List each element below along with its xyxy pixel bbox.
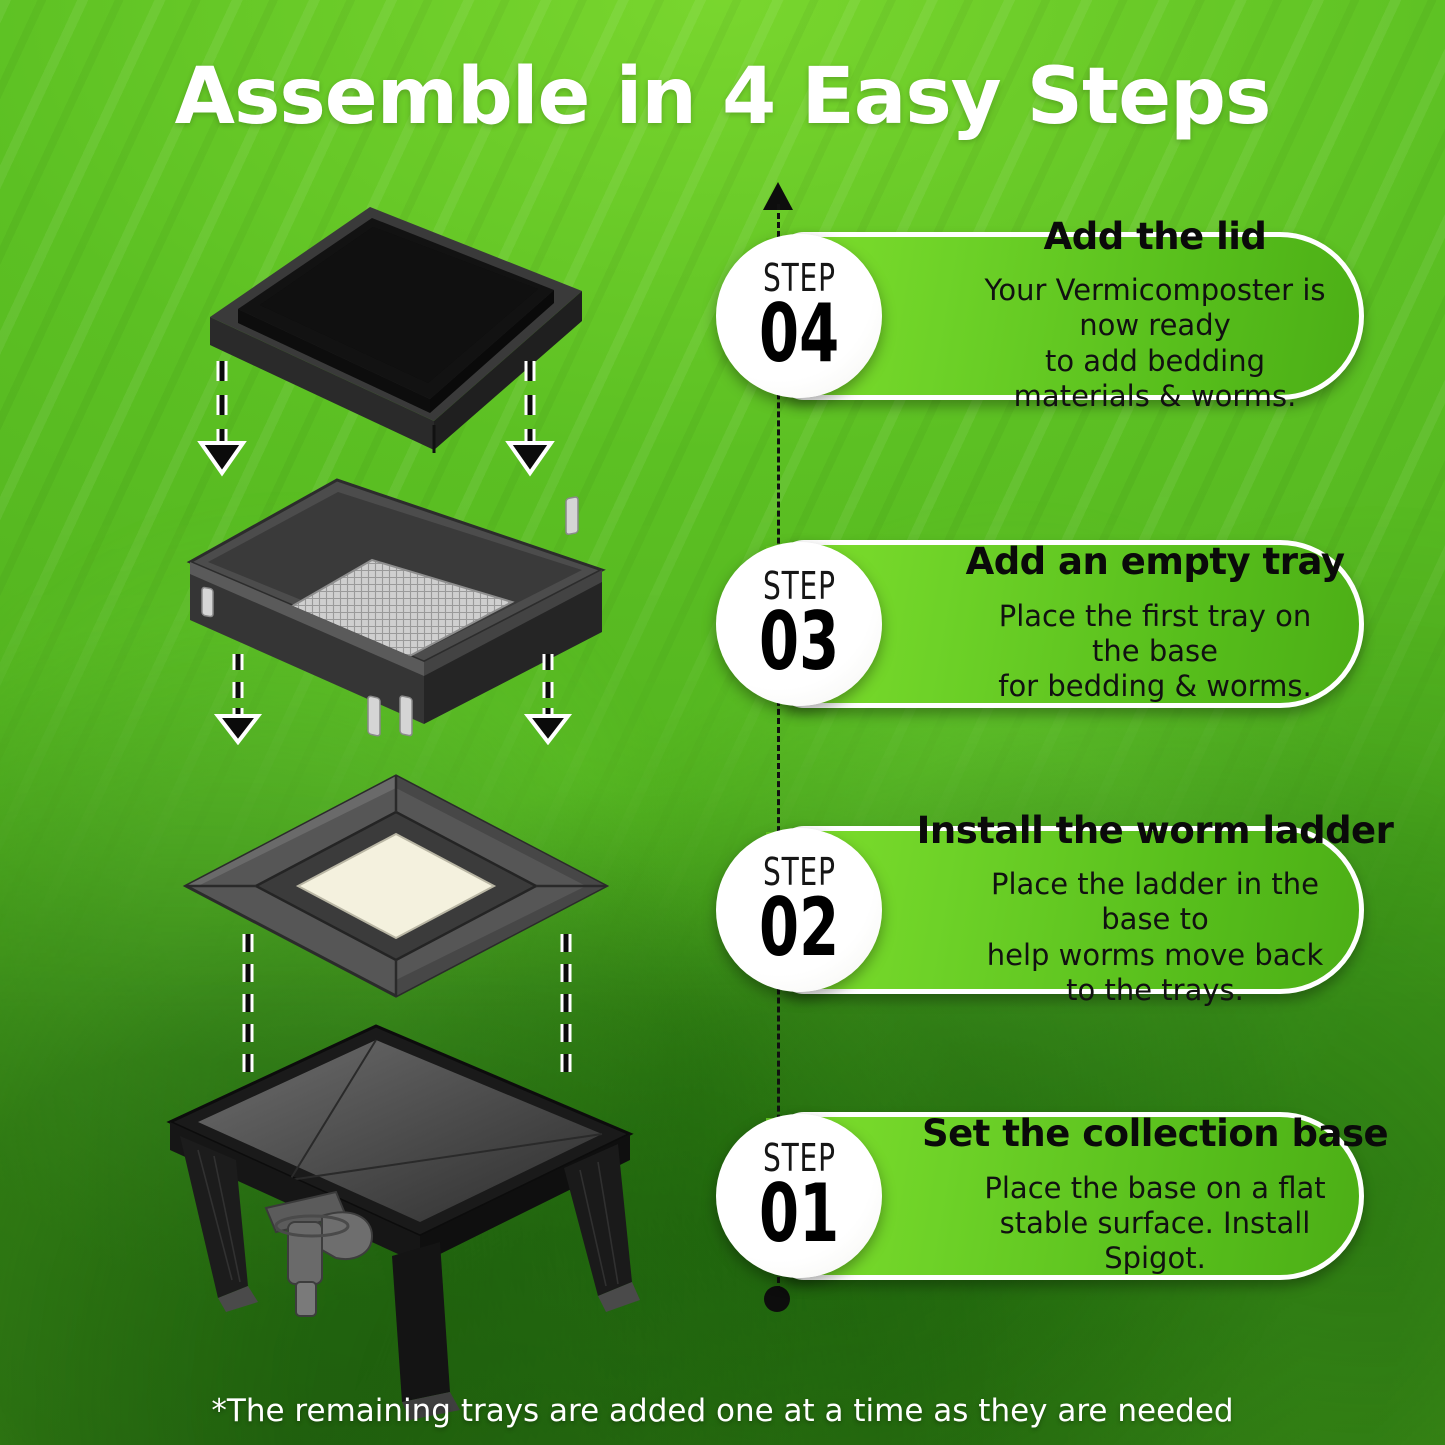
arrow-down-lid-right [504,355,556,477]
step-body-line-1: Place the ladder in the base to [973,867,1337,938]
arrow-down-lid-left [196,355,248,477]
illustration-collection-base [140,1010,660,1420]
step-text-group: Add an empty tray Place the first tray o… [973,545,1337,703]
step-body-line-2: help worms move back to the trays. [973,938,1337,1009]
infographic-canvas: Assemble in 4 Easy Steps [0,0,1445,1445]
step-body-line-1: Place the base on a flat [984,1171,1325,1206]
step-row-01[interactable]: Set the collection base Place the base o… [716,1112,1364,1280]
step-badge-02[interactable]: STEP 02 [716,828,882,992]
step-heading: Install the worm ladder [917,812,1394,850]
arrow-down-tray-left [212,650,264,745]
step-heading: Add the lid [1044,218,1267,256]
timeline-end-dot-icon [764,1286,790,1312]
step-badge-number: 02 [759,889,839,967]
step-text-group: Add the lid Your Vermicomposter is now r… [973,237,1337,395]
step-badge-04[interactable]: STEP 04 [716,234,882,398]
step-text-group: Install the worm ladder Place the ladder… [973,831,1337,989]
step-badge-03[interactable]: STEP 03 [716,542,882,706]
step-text-group: Set the collection base Place the base o… [973,1117,1337,1275]
step-body-line-2: for bedding & worms. [998,669,1312,704]
step-heading: Add an empty tray [966,543,1345,581]
step-badge-01[interactable]: STEP 01 [716,1114,882,1278]
step-badge-number: 01 [759,1175,839,1253]
step-body-line-1: Place the first tray on the base [973,599,1337,670]
step-body-line-1: Your Vermicomposter is now ready [973,273,1337,344]
step-heading: Set the collection base [922,1115,1388,1153]
step-row-02[interactable]: Install the worm ladder Place the ladder… [716,826,1364,994]
step-badge-number: 03 [759,603,839,681]
footer-note: *The remaining trays are added one at a … [0,1393,1445,1429]
step-body-line-2: to add bedding materials & worms. [973,344,1337,415]
step-badge-number: 04 [759,295,839,373]
arrow-down-tray-right [522,650,574,745]
step-row-04[interactable]: Add the lid Your Vermicomposter is now r… [716,232,1364,400]
step-row-03[interactable]: Add an empty tray Place the first tray o… [716,540,1364,708]
step-body-line-2: stable surface. Install Spigot. [973,1206,1337,1277]
page-title: Assemble in 4 Easy Steps [0,52,1445,142]
